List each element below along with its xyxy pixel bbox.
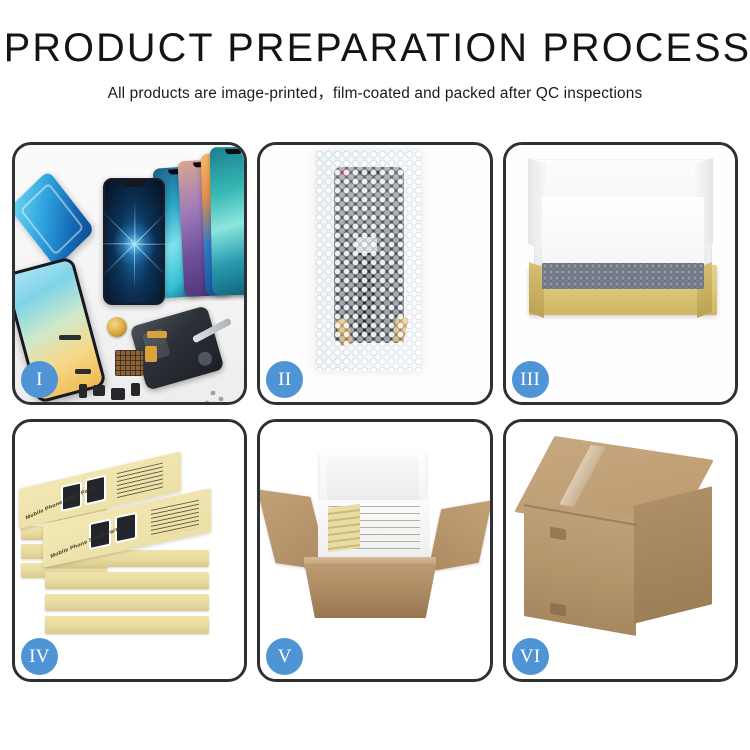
mesh-grid-part	[115, 350, 143, 376]
flex-cable-part	[147, 331, 167, 338]
chip-part	[93, 385, 105, 396]
bubble-foam-filling	[542, 263, 704, 289]
tempered-glass-screen	[103, 178, 165, 305]
screw-part	[205, 401, 209, 402]
speaker-part	[111, 388, 125, 400]
process-step-panel-6[interactable]: VI	[503, 419, 738, 682]
bubble-wrap-bag	[316, 151, 421, 371]
button-part	[79, 384, 87, 398]
camera-module-part	[131, 383, 140, 396]
phone-screen-aqua	[210, 147, 245, 296]
step-badge-1: I	[21, 361, 58, 398]
box-spec-lines	[117, 462, 163, 499]
vibrator-coil-part	[107, 317, 127, 337]
process-step-panel-1[interactable]: I	[12, 142, 247, 405]
stacked-box	[45, 594, 209, 611]
process-step-panel-3[interactable]: III	[503, 142, 738, 405]
screen-ray	[134, 244, 135, 290]
process-step-panel-2[interactable]: II	[257, 142, 492, 405]
process-step-panel-4[interactable]: Mobile Phone Spare Parts Mobile Phone Sp…	[12, 419, 247, 682]
page-header: PRODUCT PREPARATION PROCESS All products…	[0, 0, 750, 103]
carton-body	[304, 564, 436, 618]
process-step-grid: I II	[12, 142, 738, 682]
process-step-panel-5[interactable]: V	[257, 419, 492, 682]
flex-cable-part	[145, 346, 157, 362]
screen-ray	[89, 243, 135, 244]
connector-bar-part	[75, 369, 91, 374]
box-spec-lines	[151, 500, 199, 538]
antenna-bar-part	[59, 335, 81, 340]
screw-part	[219, 397, 223, 401]
step-badge-3: III	[512, 361, 549, 398]
carton-side-face	[634, 486, 712, 623]
stacked-box	[45, 572, 209, 589]
foam-insert	[542, 197, 704, 271]
phone-notch	[225, 149, 242, 154]
carton-front-face	[524, 498, 636, 636]
screen-ray	[134, 198, 135, 244]
page-subtitle: All products are image-printed，film-coat…	[0, 81, 750, 103]
screw-part	[211, 391, 215, 395]
screen-ray	[135, 243, 181, 244]
step-badge-4: IV	[21, 638, 58, 675]
stacked-box	[45, 616, 209, 634]
bubble-texture	[316, 151, 421, 371]
step-badge-6: VI	[512, 638, 549, 675]
yellow-boxes-inside	[328, 504, 360, 552]
page-title: PRODUCT PREPARATION PROCESS	[4, 28, 747, 68]
